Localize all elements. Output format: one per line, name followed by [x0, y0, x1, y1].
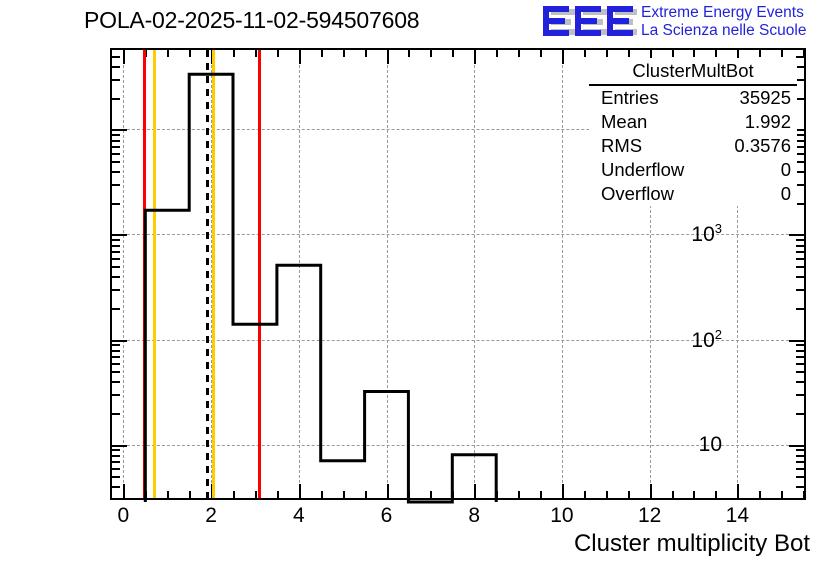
x-axis-tick-label: 14 — [726, 504, 749, 528]
stats-row-value: 1.992 — [745, 111, 791, 133]
stats-row: RMS0.3576 — [589, 134, 797, 158]
stats-box-rows: Entries35925Mean1.992RMS0.3576Underflow0… — [589, 86, 797, 206]
stats-box: ClusterMultBot Entries35925Mean1.992RMS0… — [589, 58, 797, 206]
stats-row-value: 0 — [781, 159, 791, 181]
logo-line-2: La Scienza nelle Scuole — [641, 22, 806, 40]
stats-row-value: 0.3576 — [734, 135, 791, 157]
stats-row-label: RMS — [601, 135, 642, 157]
stats-row-label: Underflow — [601, 159, 684, 181]
y-axis-tick-label: 102 — [691, 327, 722, 353]
stats-row: Overflow0 — [589, 182, 797, 206]
eee-logo: Extreme Energy Events La Scienza nelle S… — [541, 3, 833, 43]
eee-mark-icon — [541, 5, 637, 39]
x-axis-title: Cluster multiplicity Bot — [574, 530, 810, 558]
logo-line-1: Extreme Energy Events — [641, 4, 806, 22]
x-axis-tick-label: 10 — [550, 504, 573, 528]
x-axis-tick-label: 8 — [468, 504, 480, 528]
x-axis-tick-label: 2 — [205, 504, 217, 528]
x-axis-tick-label: 4 — [293, 504, 305, 528]
x-axis-tick-label: 6 — [381, 504, 393, 528]
stats-row: Mean1.992 — [589, 110, 797, 134]
y-axis-tick-label: 103 — [691, 221, 722, 247]
stats-row: Entries35925 — [589, 86, 797, 110]
page-title: POLA-02-2025-11-02-594507608 — [84, 7, 419, 34]
stats-row-label: Entries — [601, 87, 659, 109]
stats-row-label: Overflow — [601, 183, 674, 205]
logo-caption: Extreme Energy Events La Scienza nelle S… — [641, 4, 806, 40]
x-axis-tick-label: 0 — [118, 504, 130, 528]
stats-row-value: 0 — [781, 183, 791, 205]
root-canvas: POLA-02-2025-11-02-594507608 — [0, 0, 836, 572]
y-axis-tick-label: 10 — [699, 433, 722, 457]
x-axis-tick-label: 12 — [638, 504, 661, 528]
stats-row-value: 35925 — [740, 87, 791, 109]
stats-box-title: ClusterMultBot — [589, 58, 797, 86]
stats-row-label: Mean — [601, 111, 647, 133]
stats-row: Underflow0 — [589, 158, 797, 182]
